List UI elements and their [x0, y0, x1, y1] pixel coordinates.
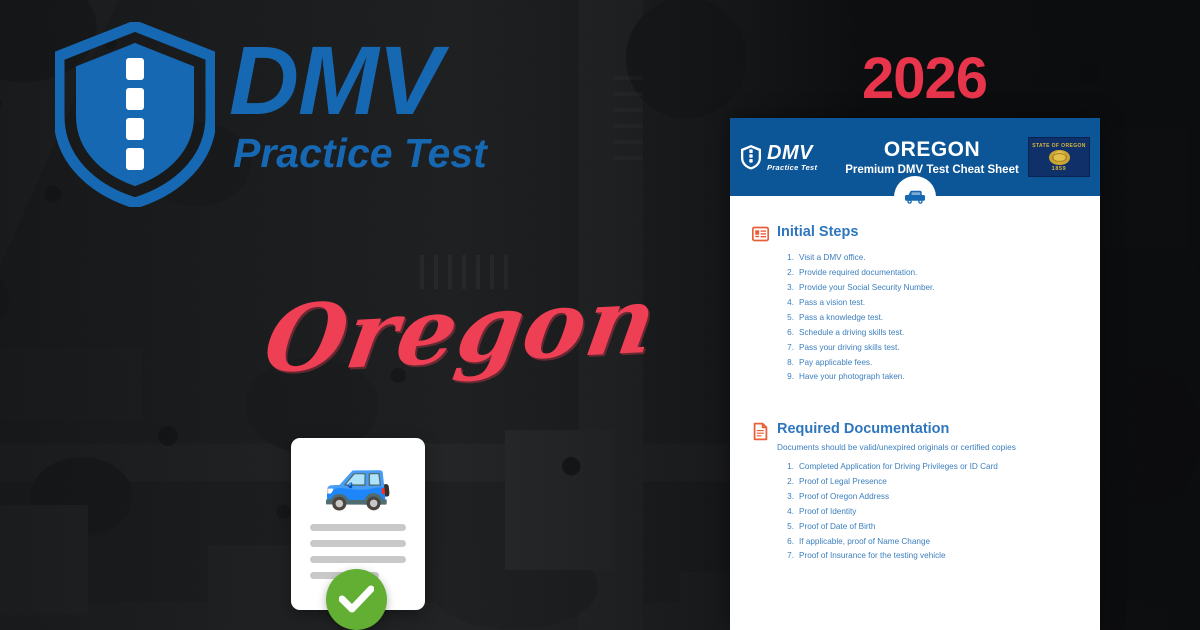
section-header: Initial Steps [752, 224, 1078, 244]
section-title: Required Documentation [777, 421, 949, 438]
list-item: Proof of Insurance for the testing vehic… [781, 549, 1078, 564]
list-item: If applicable, proof of Name Change [781, 534, 1078, 549]
list-item: Pay applicable fees. [781, 355, 1078, 370]
document-icon [752, 422, 769, 441]
brand-text-block: DMV Practice Test [229, 36, 487, 176]
section-header: Required Documentation [752, 421, 1078, 441]
brand-lockup: DMV Practice Test [55, 22, 487, 207]
shield-road-icon [740, 144, 762, 170]
initial-steps-list: Visit a DMV office. Provide required doc… [781, 251, 1078, 385]
list-item: Completed Application for Driving Privil… [781, 460, 1078, 475]
list-item: Proof of Date of Birth [781, 519, 1078, 534]
car-badge-icon [894, 176, 936, 218]
list-item: Pass a vision test. [781, 296, 1078, 311]
green-check-badge-icon [326, 569, 387, 630]
check-mark-icon [339, 585, 374, 613]
doc-line [310, 556, 406, 563]
sheet-logo-tagline: Practice Test [767, 164, 817, 172]
list-item: Proof of Legal Presence [781, 475, 1078, 490]
state-script-title: Oregon [257, 266, 664, 394]
sheet-header-title-block: OREGON Premium DMV Test Cheat Sheet [836, 138, 1028, 175]
sheet-logo-name: DMV [767, 143, 817, 163]
section-initial-steps: Initial Steps Visit a DMV office. Provid… [752, 224, 1078, 385]
sheet-subtitle: Premium DMV Test Cheat Sheet [836, 164, 1028, 176]
oregon-state-flag-icon: STATE OF OREGON 1859 [1028, 137, 1090, 177]
list-item: Proof of Identity [781, 504, 1078, 519]
sheet-logo-text: DMV Practice Test [767, 143, 817, 172]
brand-title: DMV [229, 36, 487, 125]
cheat-sheet-preview[interactable]: DMV Practice Test OREGON Premium DMV Tes… [730, 118, 1100, 630]
id-card-icon [752, 225, 769, 244]
sheet-logo-lockup: DMV Practice Test [740, 143, 836, 172]
blue-car-icon: 🚙 [291, 452, 425, 508]
section-title: Initial Steps [777, 224, 858, 241]
flag-year-text: 1859 [1052, 166, 1067, 172]
year-label: 2026 [862, 45, 987, 112]
brand-subtitle: Practice Test [233, 131, 487, 176]
list-item: Pass your driving skills test. [781, 340, 1078, 355]
list-item: Proof of Oregon Address [781, 490, 1078, 505]
sheet-body: Initial Steps Visit a DMV office. Provid… [730, 196, 1100, 564]
flag-top-text: STATE OF OREGON [1032, 143, 1086, 149]
car-icon [903, 189, 927, 205]
list-item: Have your photograph taken. [781, 370, 1078, 385]
required-documentation-list: Completed Application for Driving Privil… [781, 460, 1078, 564]
list-item: Provide your Social Security Number. [781, 281, 1078, 296]
doc-line [310, 540, 406, 547]
sheet-state-name: OREGON [836, 138, 1028, 161]
section-required-documentation: Required Documentation Documents should … [752, 421, 1078, 564]
doc-line [310, 524, 406, 531]
list-item: Provide required documentation. [781, 266, 1078, 281]
list-item: Pass a knowledge test. [781, 311, 1078, 326]
section-note: Documents should be valid/unexpired orig… [777, 442, 1078, 453]
left-branding-panel: DMV Practice Test Oregon 🚙 [0, 0, 730, 630]
list-item: Visit a DMV office. [781, 251, 1078, 266]
shield-road-icon [55, 22, 215, 207]
list-item: Schedule a driving skills test. [781, 325, 1078, 340]
oregon-state-seal-icon [1049, 150, 1070, 165]
